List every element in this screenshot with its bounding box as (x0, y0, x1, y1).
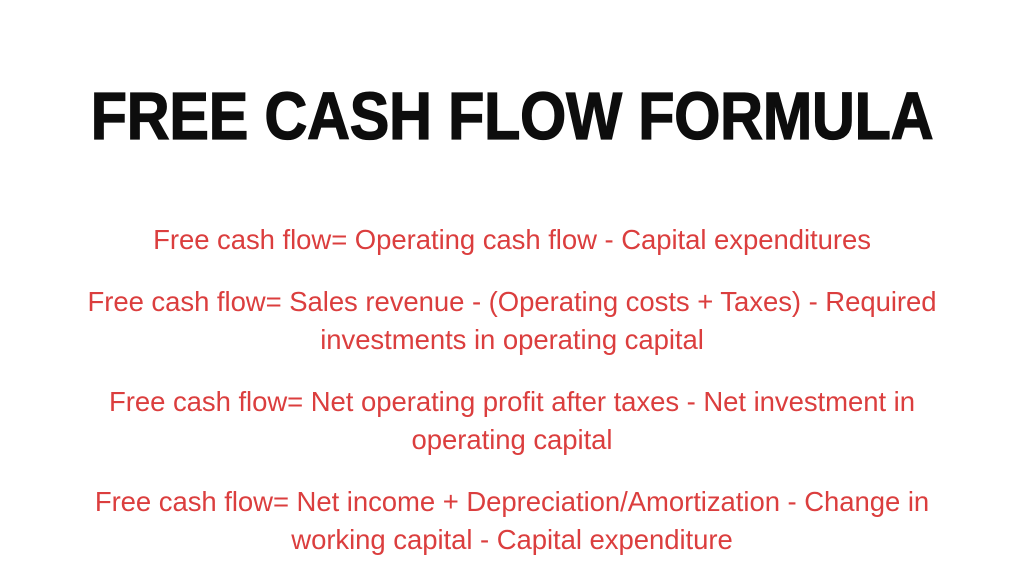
title-container: FREE CASH FLOW FORMULA (0, 38, 1024, 195)
formula-sales-revenue: Free cash flow= Sales revenue - (Operati… (73, 283, 951, 359)
slide-canvas: FREE CASH FLOW FORMULA Free cash flow= O… (0, 0, 1024, 576)
page-title: FREE CASH FLOW FORMULA (91, 83, 934, 150)
formula-net-income: Free cash flow= Net income + Depreciatio… (92, 483, 932, 559)
formula-list: Free cash flow= Operating cash flow - Ca… (0, 221, 1024, 559)
formula-operating-cash-flow: Free cash flow= Operating cash flow - Ca… (62, 221, 962, 259)
formula-nopat: Free cash flow= Net operating profit aft… (77, 383, 947, 459)
